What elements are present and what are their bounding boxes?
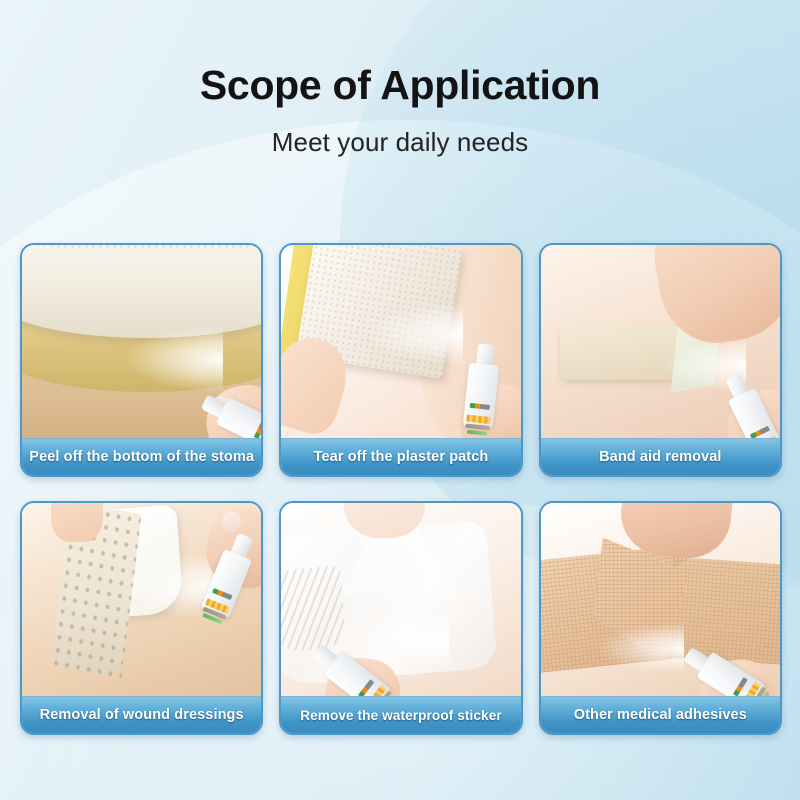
card-photo-stoma (22, 245, 261, 438)
bottle-label-logo (212, 588, 232, 600)
page-subtitle: Meet your daily needs (0, 127, 800, 158)
application-card-band-aid[interactable]: Band aid removal (539, 243, 782, 477)
application-card-plaster-patch[interactable]: Tear off the plaster patch (279, 243, 522, 477)
card-caption-band-aid: Band aid removal (541, 438, 780, 475)
page-title: Scope of Application (0, 62, 800, 109)
card-caption-plaster-patch: Tear off the plaster patch (281, 438, 520, 475)
card-caption-waterproof-sticker: Remove the waterproof sticker (281, 696, 520, 733)
card-caption-medical-adhesives: Other medical adhesives (541, 696, 780, 733)
bottle-label-logo (358, 679, 374, 696)
card-caption-wound-dressing: Removal of wound dressings (22, 696, 261, 733)
card-caption-stoma: Peel off the bottom of the stoma (22, 438, 261, 475)
bottle-label-logo (254, 419, 261, 438)
page-header: Scope of Application Meet your daily nee… (0, 0, 800, 158)
application-card-stoma[interactable]: Peel off the bottom of the stoma (20, 243, 263, 477)
bottle-label-logo (469, 403, 489, 410)
application-card-waterproof-sticker[interactable]: Remove the waterproof sticker (279, 501, 522, 735)
bottle-label-logo (750, 426, 770, 438)
application-card-medical-adhesives[interactable]: Other medical adhesives (539, 501, 782, 735)
card-photo-waterproof-sticker (281, 503, 520, 696)
bottle-body (462, 363, 499, 430)
card-photo-medical-adhesives (541, 503, 780, 696)
card-photo-plaster-patch (281, 245, 520, 438)
fabric-texture (22, 245, 261, 249)
application-card-wound-dressing[interactable]: Removal of wound dressings (20, 501, 263, 735)
card-photo-band-aid (541, 245, 780, 438)
card-photo-wound-dressing (22, 503, 261, 696)
bottle-label-stripe (466, 415, 491, 424)
application-card-grid: Peel off the bottom of the stoma (20, 243, 782, 735)
finger-lifting-dressing (51, 503, 104, 542)
stoma-bag-sheet (22, 245, 261, 338)
film-wrinkle-texture (281, 566, 347, 654)
bottle-label-logo (733, 677, 748, 696)
